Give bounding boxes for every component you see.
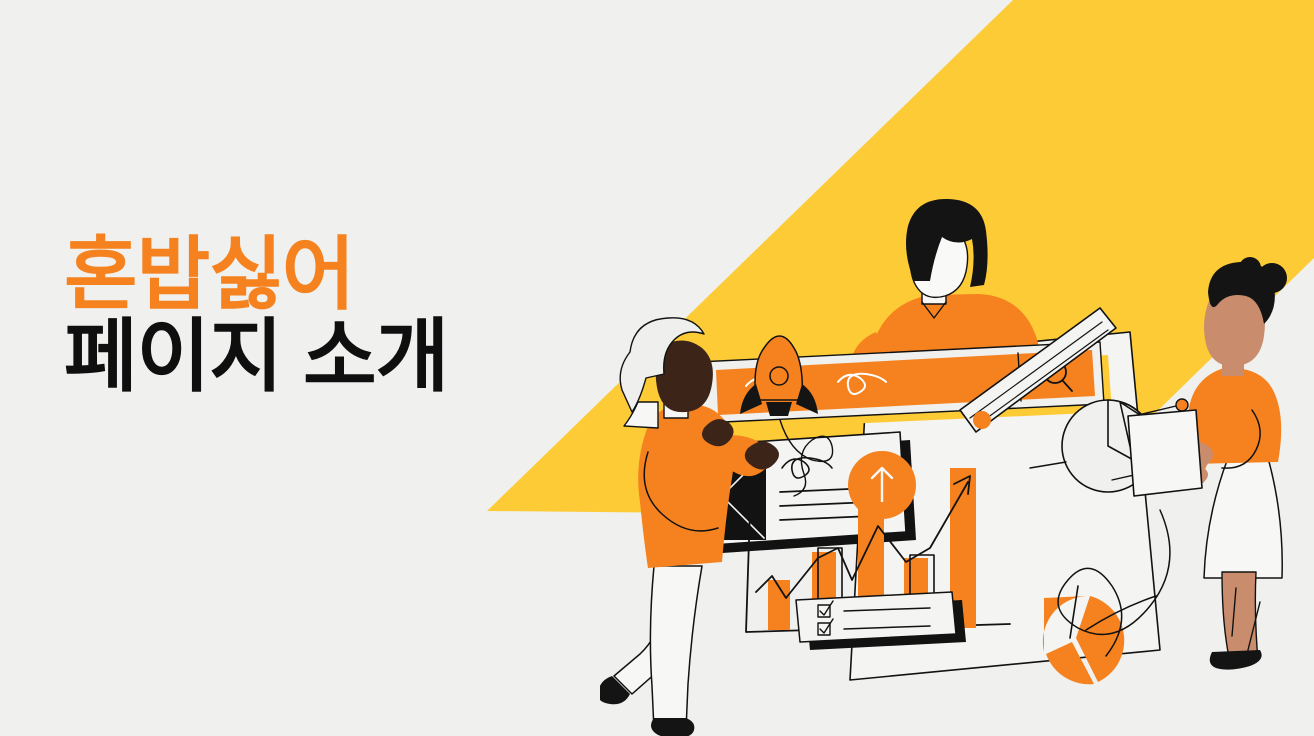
title-line-secondary: 페이지 소개 xyxy=(64,318,448,396)
illustration-svg xyxy=(600,180,1314,736)
rocket-window xyxy=(770,367,788,385)
hair-bun xyxy=(1239,257,1261,279)
checklist-card[interactable] xyxy=(796,592,966,650)
connector-dot xyxy=(1176,399,1188,411)
slide-canvas: 혼밥싫어 페이지 소개 xyxy=(0,0,1314,736)
title-line-primary: 혼밥싫어 xyxy=(64,236,448,314)
page-title: 혼밥싫어 페이지 소개 xyxy=(64,236,448,397)
clipboard[interactable] xyxy=(1128,410,1202,496)
shoe xyxy=(1210,650,1262,670)
hair-bun xyxy=(1257,263,1287,293)
hero-illustration xyxy=(600,180,1314,736)
ruler-dot xyxy=(973,411,991,429)
